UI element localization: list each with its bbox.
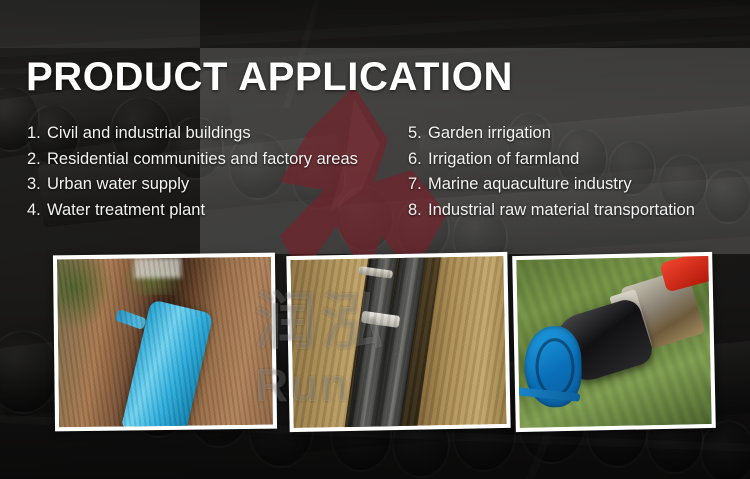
list-item-label: Residential communities and factory area… (47, 150, 358, 168)
page-title: PRODUCT APPLICATION (26, 57, 513, 97)
list-item-label: Industrial raw material transportation (428, 201, 695, 219)
list-item-number: 3. (27, 172, 47, 198)
list-item-label: Urban water supply (47, 175, 189, 193)
list-item: 3.Urban water supply (27, 172, 358, 198)
list-item-number: 1. (27, 121, 47, 147)
list-item-number: 8. (408, 198, 428, 224)
blue-compression-fitting-valve-photo[interactable] (512, 252, 716, 432)
application-list-left: 1.Civil and industrial buildings 2.Resid… (27, 121, 358, 223)
list-item: 5.Garden irrigation (408, 121, 695, 147)
list-item-number: 6. (408, 147, 428, 173)
list-item-label: Garden irrigation (428, 124, 551, 142)
list-item: 1.Civil and industrial buildings (27, 121, 358, 147)
list-item: 4.Water treatment plant (27, 198, 358, 224)
photo-gallery (50, 254, 710, 424)
list-item: 7.Marine aquaculture industry (408, 172, 695, 198)
list-item-number: 5. (408, 121, 428, 147)
list-item: 8.Industrial raw material transportation (408, 198, 695, 224)
list-item: 6.Irrigation of farmland (408, 147, 695, 173)
list-item-number: 2. (27, 147, 47, 173)
list-item-label: Water treatment plant (47, 201, 205, 219)
black-hdpe-pipes-trench-photo[interactable] (286, 252, 510, 432)
blue-pipe-trench-photo[interactable] (53, 253, 277, 432)
list-item-number: 7. (408, 172, 428, 198)
product-application-banner: PRODUCT APPLICATION 1.Civil and industri… (0, 0, 750, 479)
list-item: 2.Residential communities and factory ar… (27, 147, 358, 173)
content-overlay-panel-top (0, 0, 200, 48)
list-item-label: Civil and industrial buildings (47, 124, 251, 142)
list-item-number: 4. (27, 198, 47, 224)
application-list-right: 5.Garden irrigation 6.Irrigation of farm… (408, 121, 695, 223)
list-item-label: Marine aquaculture industry (428, 175, 632, 193)
list-item-label: Irrigation of farmland (428, 150, 579, 168)
